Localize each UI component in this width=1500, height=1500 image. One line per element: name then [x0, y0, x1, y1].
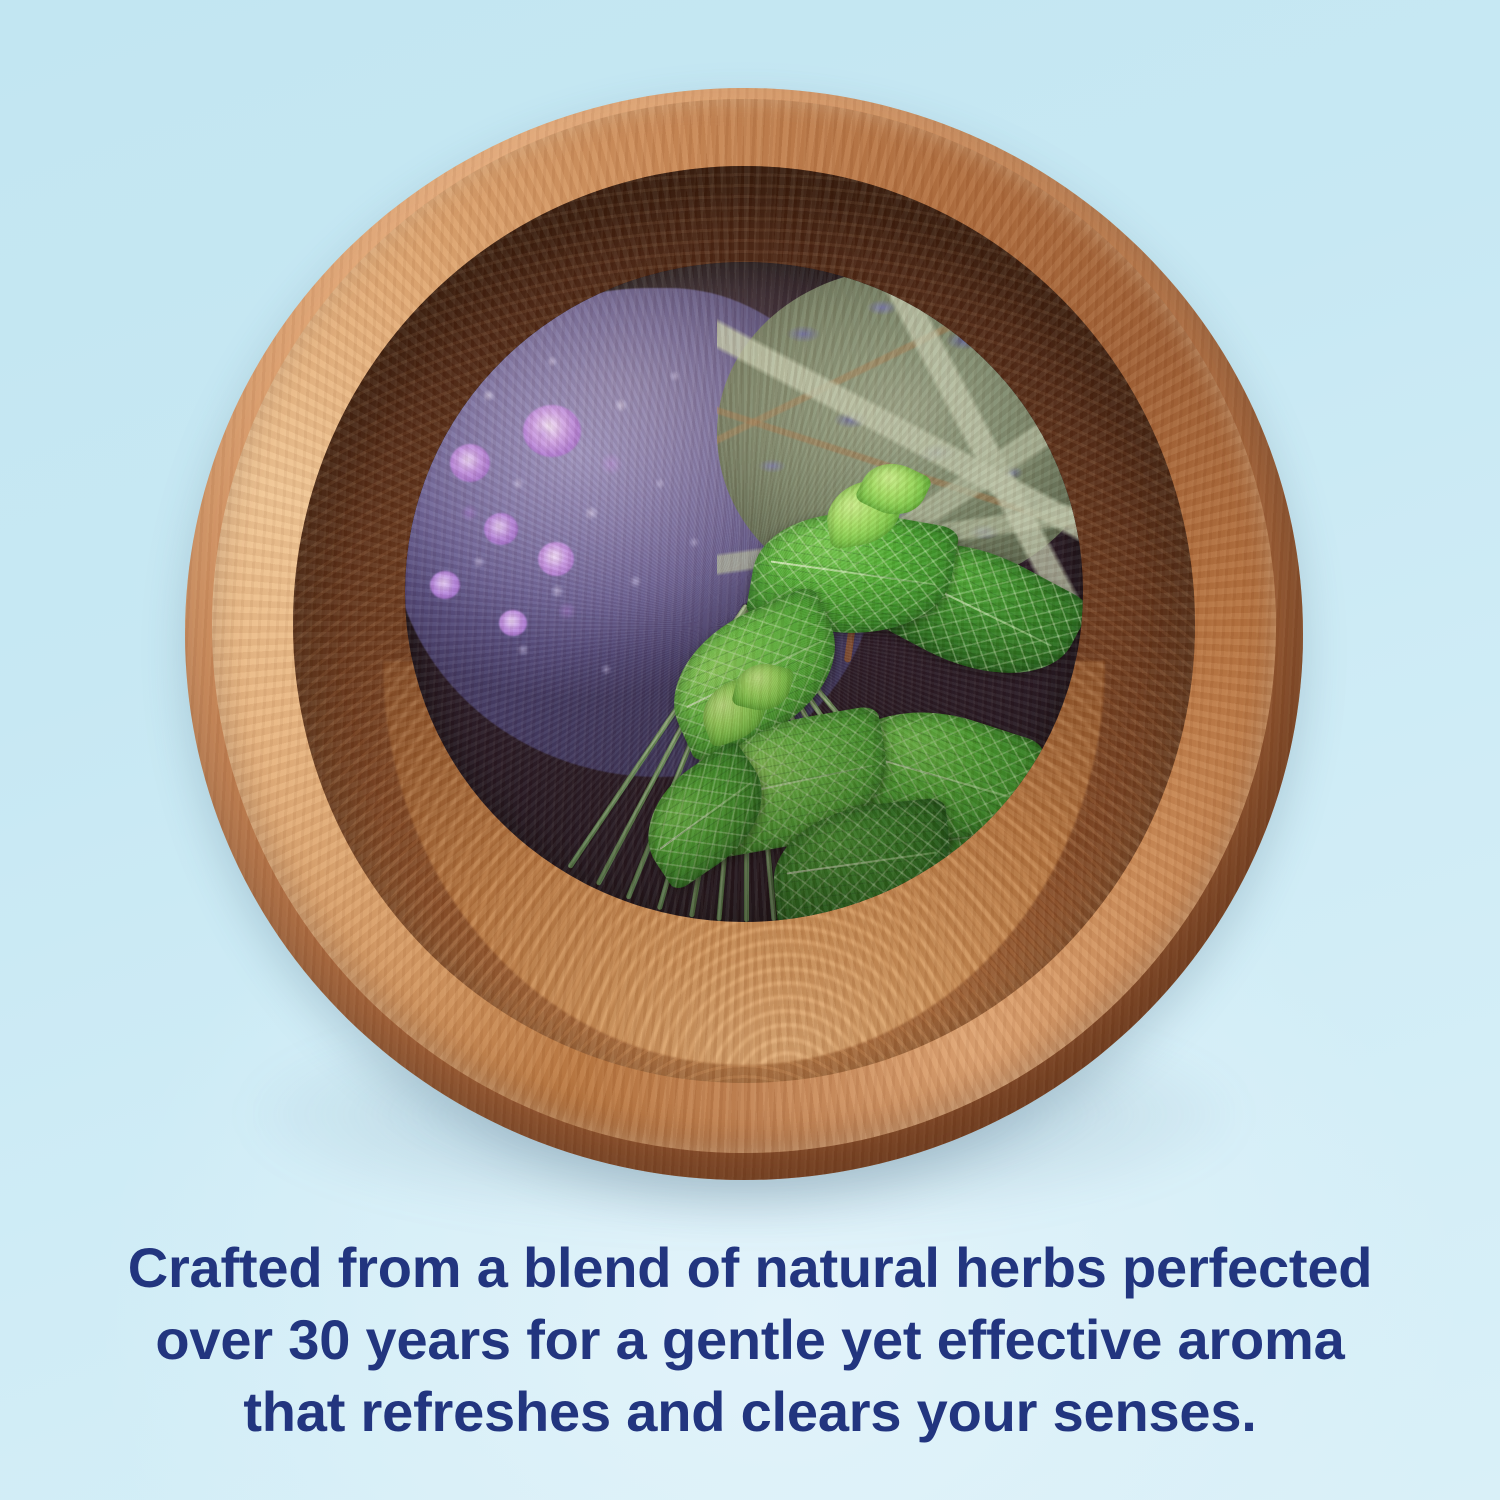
mint-shoot-tip	[693, 672, 776, 749]
mint-leaf	[623, 738, 788, 892]
caption-text: Crafted from a blend of natural herbs pe…	[0, 1232, 1500, 1448]
bowl-outer-body	[185, 88, 1303, 1180]
bowl-cavity	[405, 262, 1084, 922]
mint-shoot-tip	[853, 452, 932, 526]
caption-line-1: Crafted from a blend of natural herbs pe…	[110, 1232, 1390, 1304]
bowl-inner-wall	[293, 166, 1196, 1083]
fresh-lavender-cluster	[405, 288, 880, 776]
mint-leaf	[691, 705, 898, 859]
bowl-sunlit-floor	[383, 661, 1105, 1064]
mint-leaf	[648, 584, 860, 765]
mint-stem	[844, 530, 869, 663]
lavender-blossom-icon	[499, 610, 527, 636]
lavender-stem-fan	[567, 605, 920, 922]
lavender-blossom-icon	[484, 513, 518, 545]
caption-line-3: that refreshes and clears your senses.	[110, 1376, 1390, 1448]
caption-line-2: over 30 years for a gentle yet effective…	[110, 1304, 1390, 1376]
dried-herb-cluster	[717, 268, 1084, 598]
contents-lighting-overlay	[405, 262, 1084, 922]
lavender-blossom-icon	[450, 444, 490, 482]
mint-shoot-tip	[821, 476, 907, 550]
fresh-mint-cluster	[656, 473, 1084, 922]
wooden-bowl	[185, 88, 1303, 1180]
mint-leaf	[767, 796, 957, 921]
mint-leaf	[745, 495, 961, 651]
mint-leaf	[891, 748, 1084, 921]
bowl-rim	[212, 99, 1276, 1153]
mint-shoot-tip	[731, 657, 795, 716]
lavender-blossom-icon	[430, 571, 460, 599]
mint-leaf	[855, 508, 1083, 710]
lavender-blossom-icon	[538, 542, 574, 576]
product-lifestyle-image: Crafted from a blend of natural herbs pe…	[0, 0, 1500, 1500]
lavender-blossom-icon	[523, 405, 581, 457]
bowl-contents	[405, 262, 1084, 922]
mint-leaf	[820, 683, 1047, 866]
